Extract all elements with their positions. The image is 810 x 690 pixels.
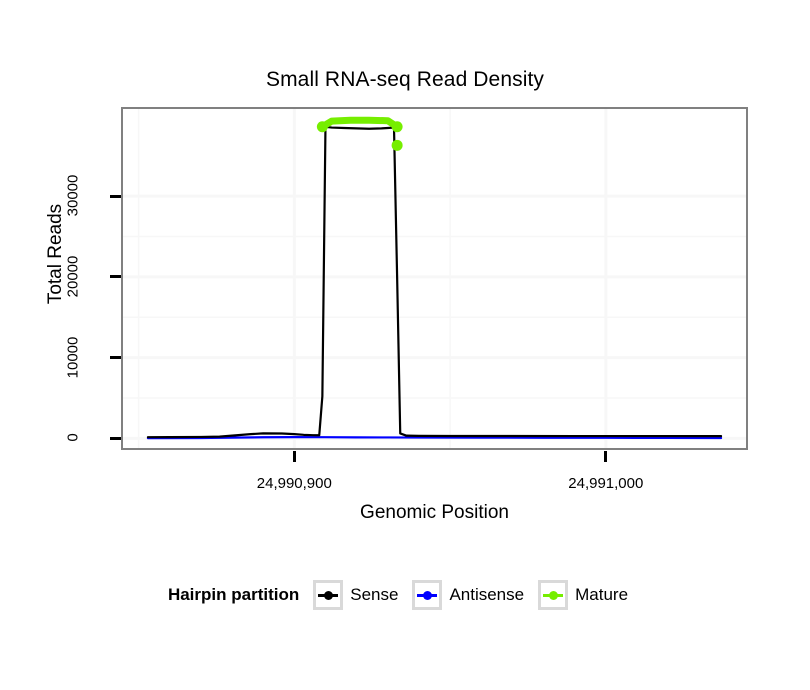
y-tick-mark: [110, 356, 121, 359]
plot-panel: [121, 107, 748, 450]
series-point-mature: [317, 121, 328, 132]
y-tick-mark: [110, 437, 121, 440]
chart-root: Small RNA-seq Read Density Total Reads 0…: [0, 0, 810, 690]
y-tick-label: 20000: [65, 241, 82, 311]
series-line-mature: [322, 120, 397, 126]
chart-title: Small RNA-seq Read Density: [0, 68, 810, 92]
series-line-antisense: [148, 437, 721, 438]
x-tick-label: 24,990,900: [214, 475, 374, 492]
legend-title: Hairpin partition: [168, 585, 299, 605]
legend-key-dot: [549, 591, 558, 600]
legend-key-dot: [423, 591, 432, 600]
legend-entry-antisense[interactable]: Antisense: [412, 580, 524, 610]
y-tick-mark: [110, 275, 121, 278]
legend-entry-mature[interactable]: Mature: [538, 580, 628, 610]
legend-key-sense: [313, 580, 343, 610]
legend-key-dot: [324, 591, 333, 600]
series-point-mature: [392, 140, 403, 151]
series-point-mature: [392, 121, 403, 132]
y-tick-label: 10000: [65, 322, 82, 392]
legend-entries: SenseAntisenseMature: [313, 580, 642, 610]
legend-label: Mature: [575, 585, 628, 605]
legend: Hairpin partition SenseAntisenseMature: [0, 580, 810, 610]
y-tick-label: 0: [65, 403, 82, 473]
legend-entry-sense[interactable]: Sense: [313, 580, 398, 610]
y-tick-label: 30000: [65, 161, 82, 231]
y-tick-mark: [110, 195, 121, 198]
x-tick-mark: [293, 451, 296, 462]
x-tick-label: 24,991,000: [526, 475, 686, 492]
x-tick-mark: [604, 451, 607, 462]
legend-label: Sense: [350, 585, 398, 605]
legend-key-mature: [538, 580, 568, 610]
series-line-sense: [148, 127, 721, 437]
legend-label: Antisense: [449, 585, 524, 605]
legend-key-antisense: [412, 580, 442, 610]
plot-area: [123, 109, 746, 448]
x-axis-title: Genomic Position: [121, 502, 748, 524]
